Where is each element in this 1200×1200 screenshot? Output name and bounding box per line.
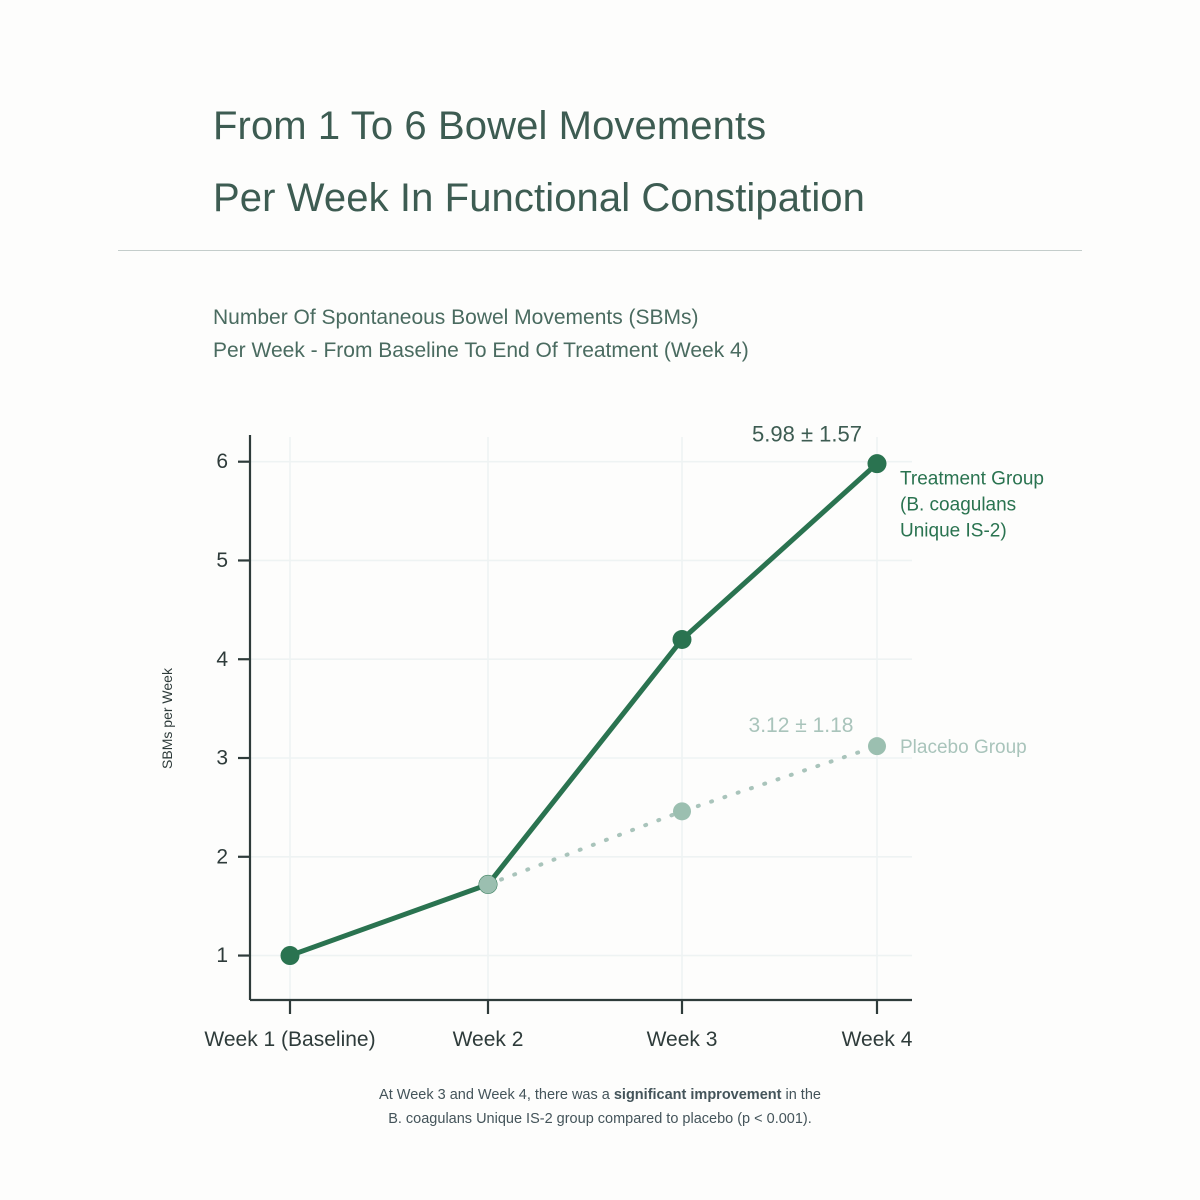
x-axis-tick-label: Week 1 (Baseline)	[204, 1028, 375, 1051]
data-point-marker[interactable]	[673, 630, 692, 649]
placebo-endpoint-value-label: 3.12 ± 1.18	[749, 714, 854, 737]
x-axis-ticks: Week 1 (Baseline)Week 2Week 3Week 4	[204, 1000, 912, 1051]
series-markers	[281, 454, 887, 965]
y-axis-ticks: 123456SBMs per Week	[159, 450, 250, 967]
line-chart: 123456SBMs per Week Week 1 (Baseline)Wee…	[0, 0, 1200, 1200]
legend-label-treatment: (B. coagulans	[900, 495, 1016, 516]
legend-label-treatment: Unique IS-2)	[900, 521, 1007, 542]
x-axis-tick-label: Week 4	[842, 1028, 913, 1051]
series-lines	[290, 464, 877, 956]
data-point-marker[interactable]	[868, 737, 886, 755]
footnote-emphasis: significant improvement	[614, 1087, 782, 1103]
footnote-suffix: in the	[781, 1087, 821, 1103]
y-axis-tick-label: 4	[216, 648, 228, 671]
y-axis-tick-label: 1	[216, 944, 228, 967]
footnote-prefix: At Week 3 and Week 4, there was a	[379, 1087, 614, 1103]
legend-label-placebo: Placebo Group	[900, 737, 1027, 758]
y-axis-tick-label: 3	[216, 747, 228, 770]
data-point-marker[interactable]	[868, 454, 887, 473]
y-axis-tick-label: 6	[216, 450, 228, 473]
chart-footnote-line-1: At Week 3 and Week 4, there was a signif…	[0, 1084, 1200, 1108]
treatment-endpoint-value-label: 5.98 ± 1.57	[752, 422, 862, 447]
y-axis-title: SBMs per Week	[159, 667, 175, 769]
data-point-marker[interactable]	[281, 946, 300, 965]
x-axis-tick-label: Week 3	[647, 1028, 718, 1051]
y-axis-tick-label: 5	[216, 549, 228, 572]
chart-svg: 123456SBMs per Week Week 1 (Baseline)Wee…	[0, 0, 1200, 1200]
chart-footnote: At Week 3 and Week 4, there was a signif…	[0, 1084, 1200, 1132]
legend-label-treatment: Treatment Group	[900, 469, 1044, 490]
data-point-marker[interactable]	[673, 802, 691, 820]
series-line-treatment	[290, 464, 877, 956]
y-axis-tick-label: 2	[216, 845, 228, 868]
chart-footnote-line-2: B. coagulans Unique IS-2 group compared …	[0, 1108, 1200, 1132]
data-point-marker[interactable]	[479, 875, 497, 893]
chart-annotations: 5.98 ± 1.573.12 ± 1.18Treatment Group(B.…	[749, 422, 1044, 758]
x-axis-tick-label: Week 2	[453, 1028, 524, 1051]
